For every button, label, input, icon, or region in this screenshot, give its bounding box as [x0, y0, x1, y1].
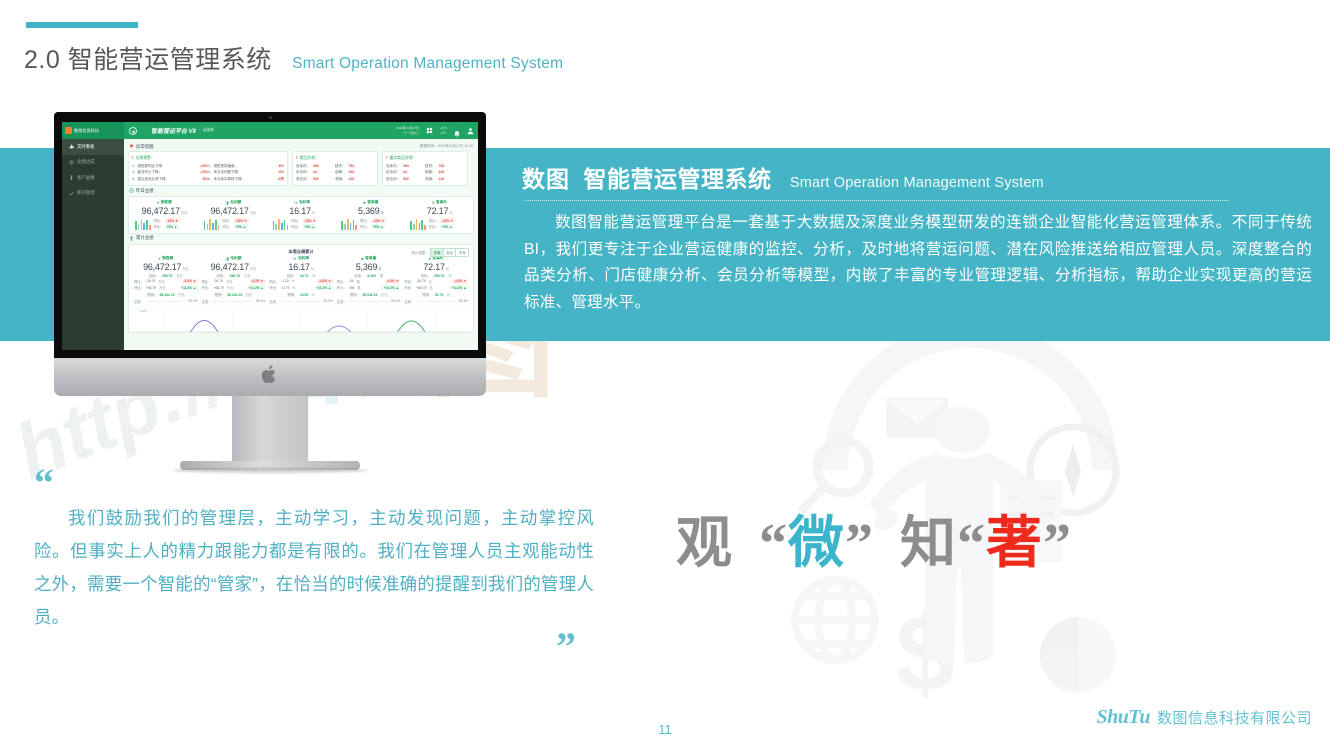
- kpi-unit: 元: [446, 267, 449, 271]
- row-label: 同比：: [269, 279, 279, 284]
- kpi-delta-yoy: 同比： -13% ▼: [222, 218, 248, 223]
- kpi-forecast: 预测： 19.50 %: [269, 292, 333, 297]
- alert-card-title: 商品异常：: [299, 155, 318, 161]
- slogan-word-2: 微: [788, 511, 845, 574]
- delta-badge: -13% ▼: [303, 218, 318, 223]
- row-unit: 元: [429, 279, 432, 284]
- kpi-value: 96,472.17万元: [134, 262, 198, 272]
- forecast-label: 预测：: [350, 292, 360, 297]
- kpi-progress: 达成： 95.3%: [134, 299, 198, 304]
- today-kpi-0: ¥ 销售额 96,472.17万元 同比： -13% ▼ 环比： +5% ▲: [129, 197, 198, 233]
- quote-text: 我们鼓励我们的管理层，主动学习，主动发现问题，主动掌控风险。但事实上人的精力跟能…: [34, 502, 594, 634]
- target-unit: %: [312, 274, 315, 278]
- row-value: +66.79: [146, 286, 156, 290]
- sparkline-bars: [204, 218, 220, 230]
- row-unit: 万元: [227, 285, 234, 290]
- alert-kv-value: 902: [403, 176, 409, 183]
- data-timestamp: 数据时间：2019年11月17日 10:10: [420, 144, 473, 149]
- progress-value: 95.3%: [323, 299, 332, 303]
- cumulative-section-title: 累计业绩: [136, 235, 154, 241]
- kpi-footer: 同比： -13% ▼ 环比： +5% ▲: [271, 218, 334, 230]
- sidebar-item-1[interactable]: 业绩达成: [62, 155, 124, 171]
- target-unit: 万元: [244, 273, 251, 278]
- kpi-row-yoy: 同比： -34.79 万元 -4.3% ▼: [134, 279, 198, 284]
- kpi-progress: 达成： 95.3%: [337, 299, 401, 304]
- kpi-label-group: ♣ 客单量: [339, 200, 402, 205]
- sidebar-item-2[interactable]: 客户画像: [62, 170, 124, 186]
- delta-badge: -13% ▼: [165, 218, 180, 223]
- dashboard-logo: 数图信息科技: [62, 122, 124, 139]
- row-value: +66.79: [416, 286, 426, 290]
- target-label: 目标：: [216, 273, 226, 278]
- forecast-value: 98,342.19: [160, 293, 175, 297]
- monitor-bezel: 数图信息科技 ◀ 智能营运平台 V8 ···迎来新 2019年11月17日 十一…: [54, 112, 486, 358]
- kpi-label: 客单量: [365, 256, 376, 261]
- kpi-row-mom: 环比： +66.79 万元 +11.2% ▲: [202, 285, 266, 290]
- alert-kv-item: 负库存： 369: [386, 163, 425, 170]
- sidebar-item-0[interactable]: 实时看板: [62, 139, 124, 155]
- kpi-unit: 笔: [378, 267, 381, 271]
- banner-heading: 数图 智能营运管理系统 Smart Operation Management S…: [522, 160, 1044, 194]
- dashboard-topbar: 数图信息科技 ◀ 智能营运平台 V8 ···迎来新 2019年11月17日 十一…: [62, 122, 478, 139]
- alert-card-1: ! 商品异常： 负库存： 369 缺货： 781 负毛利： 34 临期： 342…: [292, 151, 378, 186]
- cumulative-section-header: 累计业绩: [128, 234, 474, 243]
- banner-content: 数图 智能营运管理系统 Smart Operation Management S…: [522, 148, 1312, 341]
- alert-list-item: 5、重点商品业绩下降： -6%: [132, 176, 208, 182]
- kpi-deltas: 同比： -13% ▼ 环比： +5% ▲: [291, 218, 317, 229]
- delta-label: 同比：: [429, 218, 439, 223]
- page-title: 2.0 智能营运管理系统 Smart Operation Management …: [24, 40, 563, 76]
- slogan-quote-close-2: ”: [1043, 513, 1072, 575]
- row-value: -34.79: [416, 279, 425, 283]
- kpi-unit-icon: ♣: [363, 200, 366, 205]
- alerts-section-header: 异常提醒 数据时间：2019年11月17日 10:10: [128, 142, 474, 151]
- kpi-delta-yoy: 同比： -13% ▼: [291, 218, 317, 223]
- alert-kv-label: 低毛利：: [296, 176, 310, 183]
- kpi-value: 5,369笔: [337, 262, 401, 272]
- alert-kv-item: 临期： 342: [335, 169, 374, 176]
- today-kpi-4: $ 客单价 72.17元 同比： -13% ▼ 环比： +5% ▲: [404, 197, 473, 233]
- kpi-target: 目标： 258.79 元: [404, 273, 468, 278]
- kpi-row-mom: 环比： +66.79 万元 +11.2% ▲: [134, 285, 198, 290]
- footer-logo: ShuTu 数图信息科技有限公司: [1097, 706, 1312, 729]
- banner-title-cn: 智能营运管理系统: [583, 166, 771, 192]
- delta-badge: -13% ▼: [440, 218, 455, 223]
- kpi-forecast: 预测： 98,342.19 万元: [134, 292, 198, 297]
- alert-bell-icon: [129, 144, 134, 149]
- target-value: 258.79: [434, 274, 444, 278]
- alert-item-value: -3天: [277, 176, 284, 182]
- row-unit: 笔: [357, 285, 360, 290]
- alert-kv-label: 负库存：: [296, 163, 310, 170]
- delta-label: 环比：: [429, 224, 439, 229]
- sidebar-item-label: 业绩达成: [77, 159, 95, 165]
- kpi-row-mom: 环比： +66 笔 +11.2% ▲: [337, 285, 401, 290]
- kpi-value: 16.17%: [269, 262, 333, 272]
- alert-card-body: 1、销售额同比下降： -10% 2、销售预算偏差： -6% 3、客流环比下降： …: [132, 163, 284, 182]
- dashboard-main: 异常提醒 数据时间：2019年11月17日 10:10 ! 业绩预警： 1、销售…: [124, 139, 478, 350]
- progress-track: [146, 301, 186, 303]
- kpi-row-mom: 环比： +2.79 % +11.2% ▲: [269, 285, 333, 290]
- alert-kv-label: 滞销：: [425, 176, 436, 183]
- sidebar-item-3[interactable]: 库存管理: [62, 186, 124, 202]
- banner-brand: 数图: [522, 166, 570, 192]
- alert-kv-value: 34: [313, 169, 317, 176]
- forecast-value: 92.79: [435, 293, 444, 297]
- footer-logo-mark: ShuTu: [1097, 706, 1150, 729]
- kpi-label: 销售额: [161, 200, 172, 205]
- row-label: 同比：: [337, 279, 347, 284]
- row-value: -34.79: [146, 279, 155, 283]
- progress-label: 达成：: [202, 299, 212, 304]
- range-tab-0[interactable]: 本周: [431, 249, 444, 256]
- dashboard-icon: [69, 144, 74, 149]
- kpi-row-yoy: 同比： -34 笔 -4.3% ▼: [337, 279, 401, 284]
- kpi-deltas: 同比： -13% ▼ 环比： +5% ▲: [429, 218, 455, 229]
- kpi-row-yoy: 同比： -34.79 元 -4.3% ▼: [404, 279, 468, 284]
- user-avatar-icon[interactable]: [467, 127, 474, 135]
- row-badge: +11.2% ▲: [247, 285, 265, 290]
- alert-kv-value: 902: [313, 176, 319, 183]
- delta-label: 环比：: [360, 224, 370, 229]
- range-tab-group[interactable]: 本周本月半年: [430, 248, 469, 257]
- alert-kv-label: 负库存：: [386, 163, 400, 170]
- monitor-screen: 数图信息科技 ◀ 智能营运平台 V8 ···迎来新 2019年11月17日 十一…: [62, 122, 478, 350]
- target-value: 5,400: [367, 274, 376, 278]
- alert-card-2: ! 重点商品异常： 负库存： 369 缺货： 781 负毛利： 34 临期： 3…: [382, 151, 468, 186]
- kpi-unit-icon: %: [294, 200, 297, 205]
- alert-kv-label: 缺货：: [335, 163, 346, 170]
- kpi-label-group: ◨ 毛利额: [202, 200, 265, 205]
- imac-monitor-mockup: 数图信息科技 ◀ 智能营运平台 V8 ···迎来新 2019年11月17日 十一…: [54, 112, 486, 462]
- row-unit: 元: [429, 285, 432, 290]
- clock-icon: [129, 188, 134, 193]
- progress-label: 达成：: [337, 299, 347, 304]
- alert-card-title: 业绩预警：: [135, 155, 154, 161]
- kpi-label-group: ¥ 销售额: [134, 256, 198, 261]
- forecast-value: 98,342.19: [227, 293, 242, 297]
- row-value: +66: [349, 286, 355, 290]
- delta-label: 环比：: [291, 224, 301, 229]
- forecast-label: 预测：: [215, 292, 225, 297]
- alert-kv-label: 负毛利：: [296, 169, 310, 176]
- range-label: 统计范围：: [411, 250, 428, 255]
- slogan: 观“微”知“著”: [676, 513, 1072, 574]
- delta-badge: +5% ▲: [165, 224, 179, 229]
- delta-badge: +5% ▲: [440, 224, 454, 229]
- kpi-unit-icon: ◨: [225, 256, 229, 261]
- trend-mini-chart: 100%: [132, 306, 470, 332]
- slogan-quote-open-2: “: [957, 513, 986, 575]
- sidebar-item-label: 实时看板: [77, 144, 95, 150]
- quote-open-mark: “: [34, 472, 594, 494]
- row-badge: +11.2% ▲: [315, 285, 333, 290]
- alert-kv-label: 滞销：: [335, 176, 346, 183]
- forecast-label: 预测：: [422, 292, 432, 297]
- forecast-label: 预测：: [287, 292, 297, 297]
- forecast-label: 预测：: [147, 292, 157, 297]
- kpi-label-group: ◨ 毛利额: [202, 256, 266, 261]
- alert-kv-value: 369: [403, 163, 409, 170]
- kpi-progress: 达成： 95.3%: [269, 299, 333, 304]
- row-label: 环比：: [269, 285, 279, 290]
- row-value: -1.23: [281, 279, 289, 283]
- user-icon: [69, 175, 74, 180]
- kpi-unit-icon: %: [293, 256, 296, 261]
- cumulative-kpi-4: $ 客单价 72.17元 目标： 258.79 元 同比： -34.79 元 -…: [402, 256, 470, 304]
- row-badge: +11.2% ▲: [382, 285, 400, 290]
- range-tab-1[interactable]: 本月: [444, 249, 457, 256]
- target-label: 目标：: [149, 273, 159, 278]
- delta-label: 环比：: [154, 224, 164, 229]
- kpi-value: 96,472.17万元: [202, 262, 266, 272]
- row-unit: 笔: [356, 279, 359, 284]
- kpi-delta-yoy: 同比： -13% ▼: [429, 218, 455, 223]
- kpi-value: 5,369笔: [339, 206, 402, 216]
- kpi-unit: 万元: [182, 267, 188, 271]
- kpi-label: 毛利额: [231, 256, 242, 261]
- row-label: 同比：: [404, 279, 414, 284]
- sparkline-bars: [135, 218, 151, 230]
- kpi-label: 毛利率: [298, 256, 309, 261]
- kpi-row-mom: 环比： +66.79 元 +11.2% ▲: [404, 285, 468, 290]
- page-title-cn: 2.0 智能营运管理系统: [24, 46, 272, 74]
- alert-kv-item: 缺货： 781: [335, 163, 374, 170]
- alert-kv-item: 缺货： 781: [425, 163, 464, 170]
- kpi-delta-mom: 环比： +5% ▲: [429, 224, 455, 229]
- alert-kv-value: 34: [403, 169, 407, 176]
- kpi-unit: %: [312, 211, 315, 215]
- cumulative-kpi-card: 本周业绩累计 统计范围： 本周本月半年 ¥ 销售额 96,472.17万元 目标…: [128, 244, 474, 333]
- row-unit: 万元: [159, 285, 166, 290]
- alert-kv-label: 临期：: [425, 169, 436, 176]
- slogan-word-4: 著: [986, 511, 1043, 574]
- alert-kv-label: 临期：: [335, 169, 346, 176]
- kpi-label: 客单价: [436, 200, 447, 205]
- alert-kv-value: 781: [439, 163, 445, 170]
- row-label: 环比：: [202, 285, 212, 290]
- alert-kv-item: 临期： 342: [425, 169, 464, 176]
- alert-item-label: 6、本月库存周转下降：: [208, 176, 277, 182]
- forecast-value: 98,342.19: [362, 293, 377, 297]
- delta-label: 同比：: [222, 218, 232, 223]
- delta-label: 同比：: [360, 218, 370, 223]
- kpi-deltas: 同比： -13% ▼ 环比： +5% ▲: [222, 218, 248, 229]
- dashboard-logo-text: 数图信息科技: [74, 128, 99, 134]
- range-tab-2[interactable]: 半年: [456, 249, 468, 256]
- quote-close-mark: ”: [34, 636, 576, 658]
- range-selector: 统计范围： 本周本月半年: [411, 248, 469, 257]
- svg-text:$: $: [895, 592, 955, 713]
- progress-label: 达成：: [134, 299, 144, 304]
- delta-badge: +5% ▲: [303, 224, 317, 229]
- kpi-label: 毛利额: [230, 200, 241, 205]
- warning-icon: !: [386, 155, 387, 160]
- kpi-unit-icon: ♣: [361, 256, 364, 261]
- alert-card-header: ! 商品异常：: [296, 155, 374, 161]
- target-label: 目标：: [287, 273, 297, 278]
- sparkline-bars: [410, 218, 426, 230]
- target-value: 16.79: [300, 274, 309, 278]
- logo-mark-icon: [65, 127, 72, 134]
- alert-kv-value: 342: [439, 169, 445, 176]
- alert-kv-value: 369: [313, 163, 319, 170]
- kpi-forecast: 预测： 92.79 元: [404, 292, 468, 297]
- kpi-target: 目标： 5,400 笔: [337, 273, 401, 278]
- cumulative-kpi-2: % 毛利率 16.17% 目标： 16.79 % 同比： -1.23 % -4.…: [267, 256, 335, 304]
- svg-text:100%: 100%: [140, 309, 148, 313]
- kpi-value: 96,472.17万元: [133, 206, 196, 216]
- kpi-row-yoy: 同比： -34.79 万元 -4.3% ▼: [202, 279, 266, 284]
- kpi-delta-mom: 环比： +5% ▲: [222, 224, 248, 229]
- progress-value: 95.3%: [256, 299, 265, 303]
- delta-badge: +5% ▲: [371, 224, 385, 229]
- kpi-label-group: % 毛利率: [269, 256, 333, 261]
- forecast-unit: 元: [447, 292, 450, 297]
- alert-card-body: 负库存： 369 缺货： 781 负毛利： 34 临期： 342 低毛利： 90…: [296, 163, 374, 183]
- forecast-value: 19.50: [300, 293, 309, 297]
- delta-label: 同比：: [291, 218, 301, 223]
- kpi-row-yoy: 同比： -1.23 % -4.3% ▼: [269, 279, 333, 284]
- row-value: +66.79: [213, 286, 223, 290]
- kpi-unit-icon: $: [432, 200, 434, 205]
- alert-card-header: ! 业绩预警：: [132, 155, 284, 161]
- alert-item-label: 5、重点商品业绩下降：: [132, 176, 202, 182]
- progress-track: [349, 301, 389, 303]
- today-section-title: 昨日业绩: [136, 188, 154, 194]
- alert-kv-item: 低毛利： 902: [296, 176, 335, 183]
- row-badge: -4.3% ▼: [452, 279, 468, 284]
- kpi-deltas: 同比： -13% ▼ 环比： +5% ▲: [154, 218, 180, 229]
- dashboard-app-subtitle: ···迎来新: [199, 128, 214, 133]
- alert-kv-item: 负毛利： 34: [296, 169, 335, 176]
- alert-card-header: ! 重点商品异常：: [386, 155, 464, 161]
- alert-card-0: ! 业绩预警： 1、销售额同比下降： -10% 2、销售预算偏差： -6% 3、…: [128, 151, 288, 186]
- kpi-footer: 同比： -13% ▼ 环比： +5% ▲: [202, 218, 265, 230]
- progress-value: 95.3%: [459, 299, 468, 303]
- alerts-section-title: 异常提醒: [136, 144, 154, 150]
- row-label: 环比：: [337, 285, 347, 290]
- alert-kv-value: 120: [349, 176, 355, 183]
- kpi-deltas: 同比： -13% ▼ 环比： +5% ▲: [360, 218, 386, 229]
- row-value: +2.79: [281, 286, 289, 290]
- kpi-footer: 同比： -13% ▼ 环比： +5% ▲: [339, 218, 402, 230]
- target-unit: 笔: [380, 273, 383, 278]
- alert-kv-label: 负毛利：: [386, 169, 400, 176]
- slogan-quote-open-1: “: [759, 513, 788, 575]
- kpi-footer: 同比： -13% ▼ 环比： +5% ▲: [408, 218, 471, 230]
- target-label: 目标：: [354, 273, 364, 278]
- kpi-value: 72.17元: [408, 206, 471, 216]
- progress-track: [416, 301, 456, 303]
- topbar-temperature: +5℃ -3℃: [440, 126, 447, 135]
- target-value: 258.79: [229, 274, 239, 278]
- progress-value: 95.3%: [391, 299, 400, 303]
- delta-badge: -13% ▼: [371, 218, 386, 223]
- alert-kv-value: 781: [349, 163, 355, 170]
- notification-bell-icon[interactable]: [453, 126, 461, 135]
- alert-card-body: 负库存： 369 缺货： 781 负毛利： 34 临期： 342 低毛利： 90…: [386, 163, 464, 183]
- forecast-unit: 万元: [381, 292, 388, 297]
- collapse-sidebar-button[interactable]: ◀: [129, 127, 137, 135]
- kpi-forecast: 预测： 98,342.19 万元: [337, 292, 401, 297]
- progress-label: 达成：: [269, 299, 279, 304]
- kpi-target: 目标： 16.79 %: [269, 273, 333, 278]
- kpi-target: 目标： 258.79 万元: [134, 273, 198, 278]
- slogan-word-3: 知: [900, 511, 957, 574]
- kpi-unit: 万元: [250, 267, 256, 271]
- footer-company-name: 数图信息科技有限公司: [1157, 707, 1312, 728]
- quote-block: “ 我们鼓励我们的管理层，主动学习，主动发现问题，主动掌控风险。但事实上人的精力…: [34, 472, 594, 658]
- alert-kv-label: 缺货：: [425, 163, 436, 170]
- kpi-unit: 万元: [181, 211, 187, 215]
- row-value: -34: [349, 279, 354, 283]
- kpi-unit: 元: [449, 211, 452, 215]
- kpi-progress: 达成： 95.3%: [404, 299, 468, 304]
- kpi-delta-yoy: 同比： -13% ▼: [360, 218, 386, 223]
- kpi-delta-yoy: 同比： -13% ▼: [154, 218, 180, 223]
- row-unit: %: [292, 286, 295, 290]
- row-label: 环比：: [134, 285, 144, 290]
- kpi-label-group: $ 客单价: [408, 200, 471, 205]
- cumulative-kpi-0: ¥ 销售额 96,472.17万元 目标： 258.79 万元 同比： -34.…: [132, 256, 200, 304]
- delta-badge: -13% ▼: [234, 218, 249, 223]
- today-kpi-1: ◨ 毛利额 96,472.17万元 同比： -13% ▼ 环比： +5% ▲: [198, 197, 267, 233]
- banner-title-en: Smart Operation Management System: [790, 175, 1044, 191]
- today-section-header: 昨日业绩: [128, 186, 474, 195]
- delta-label: 同比：: [154, 218, 164, 223]
- page-title-en: Smart Operation Management System: [292, 55, 563, 72]
- alert-kv-value: 120: [439, 176, 445, 183]
- row-badge: +11.2% ▲: [180, 285, 198, 290]
- kpi-value: 96,472.17万元: [202, 206, 265, 216]
- kpi-target: 目标： 258.79 万元: [202, 273, 266, 278]
- alert-kv-value: 342: [349, 169, 355, 176]
- row-badge: -4.3% ▼: [317, 279, 333, 284]
- forecast-unit: 万元: [178, 292, 185, 297]
- kpi-unit: %: [311, 267, 314, 271]
- forecast-unit: %: [312, 293, 315, 297]
- kpi-delta-mom: 环比： +5% ▲: [154, 224, 180, 229]
- kpi-unit-icon: ◨: [225, 200, 229, 205]
- kpi-label: 客单量: [367, 200, 378, 205]
- alert-kv-item: 负毛利： 34: [386, 169, 425, 176]
- kpi-label-group: ¥ 销售额: [133, 200, 196, 205]
- cumulative-kpi-row: ¥ 销售额 96,472.17万元 目标： 258.79 万元 同比： -34.…: [132, 256, 470, 304]
- cumulative-kpi-1: ◨ 毛利额 96,472.17万元 目标： 258.79 万元 同比： -34.…: [200, 256, 268, 304]
- progress-track: [213, 301, 253, 303]
- row-label: 环比：: [404, 285, 414, 290]
- row-unit: 万元: [226, 279, 233, 284]
- banner-paragraph: 数图智能营运管理平台是一套基于大数据及深度业务模型研发的连锁企业智能化营运管理体…: [524, 210, 1312, 316]
- warning-icon: !: [296, 155, 297, 160]
- kpi-delta-mom: 环比： +5% ▲: [291, 224, 317, 229]
- row-label: 同比：: [134, 279, 144, 284]
- kpi-unit-icon: ¥: [157, 200, 159, 205]
- dashboard-sidebar: 实时看板 业绩达成 客户画像 库存管理: [62, 139, 124, 350]
- topbar-right-group: 2019年11月17日 十一月过二 +5℃ -3℃: [396, 126, 478, 135]
- sparkline-bars: [341, 218, 357, 230]
- target-icon: [69, 160, 74, 165]
- row-badge: -4.3% ▼: [250, 279, 266, 284]
- row-badge: -4.3% ▼: [182, 279, 198, 284]
- delta-label: 环比：: [222, 224, 232, 229]
- topbar-date: 2019年11月17日 十一月过二: [396, 126, 419, 135]
- kpi-delta-mom: 环比： +5% ▲: [360, 224, 386, 229]
- target-label: 目标：: [421, 273, 431, 278]
- target-unit: 万元: [176, 273, 183, 278]
- forecast-unit: 万元: [246, 292, 253, 297]
